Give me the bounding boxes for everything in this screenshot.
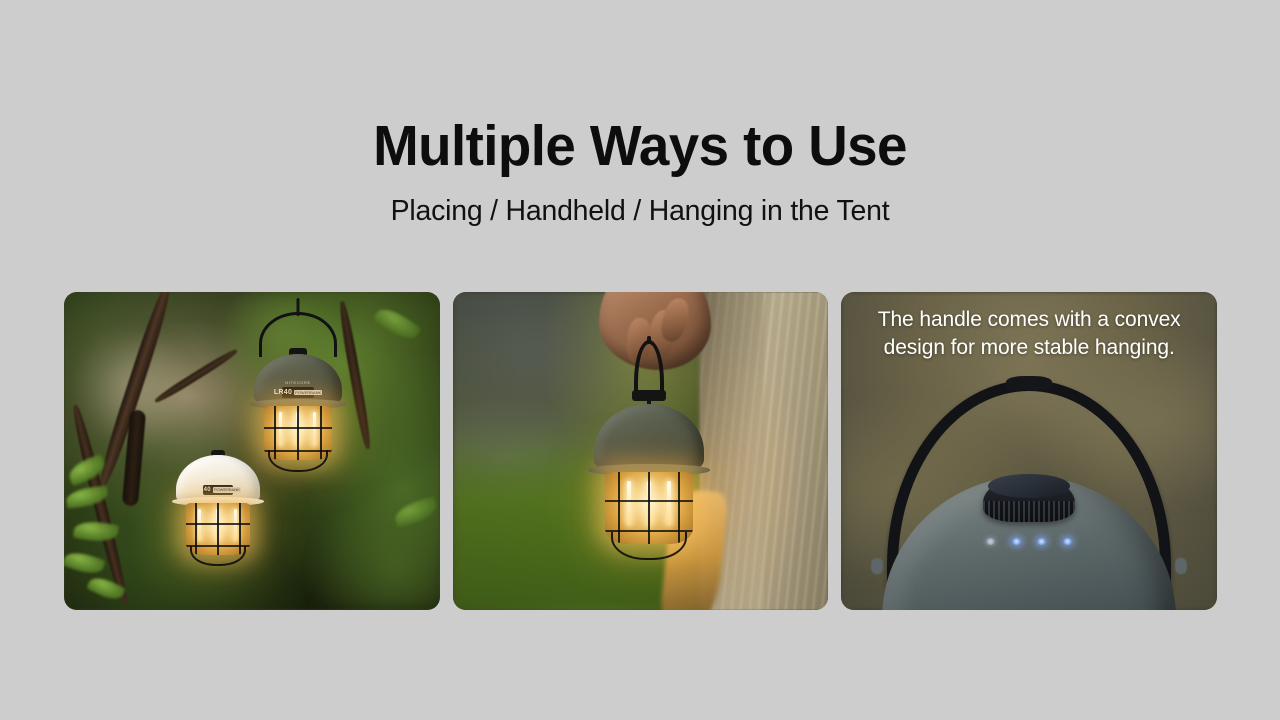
model-badge: LR40 POWERBANK <box>282 387 314 398</box>
battery-led <box>1012 538 1021 545</box>
cage-wire <box>264 427 332 429</box>
lantern-base-cage <box>611 532 687 560</box>
lantern-white: NITECORE LR40 POWERBANK <box>168 444 268 604</box>
model-name: LR40 <box>274 389 292 396</box>
gallery-panel-convex-handle-detail[interactable]: The handle comes with a convex design fo… <box>841 292 1217 610</box>
battery-led <box>1037 538 1046 545</box>
gallery-panel-handheld[interactable] <box>453 292 829 610</box>
filament <box>279 412 282 445</box>
lantern-base-cage <box>190 546 246 566</box>
handle-anchor <box>871 558 883 574</box>
badge-subtext: POWERBANK <box>294 390 322 395</box>
image-gallery: NITECORE LR40 POWERBANK <box>64 292 1217 610</box>
filament <box>198 509 201 541</box>
model-name: LR40 <box>195 487 211 493</box>
handle-anchor <box>1175 558 1187 574</box>
header: Multiple Ways to Use Placing / Handheld … <box>0 0 1280 226</box>
battery-indicator-leds <box>986 538 1072 545</box>
product-feature-page: Multiple Ways to Use Placing / Handheld … <box>0 0 1280 720</box>
lantern-base-cage <box>268 450 328 472</box>
filament <box>313 412 316 445</box>
battery-led <box>1063 538 1072 545</box>
handle-apex-notch <box>1006 376 1052 390</box>
control-knob-face[interactable] <box>988 474 1070 498</box>
filament <box>627 481 631 526</box>
gallery-panel-placing-hanging-tree[interactable]: NITECORE LR40 POWERBANK <box>64 292 440 610</box>
filament <box>667 481 671 526</box>
cage-wire <box>605 500 693 502</box>
lantern-handheld <box>589 336 709 566</box>
cage-wire <box>186 523 250 525</box>
panel-caption: The handle comes with a convex design fo… <box>841 306 1217 363</box>
brand-label: NITECORE <box>205 478 230 483</box>
filament <box>234 509 237 541</box>
battery-led <box>986 538 995 545</box>
badge-subtext: POWERBANK <box>213 487 241 492</box>
lantern-dome <box>594 404 704 470</box>
model-badge: LR40 POWERBANK <box>203 485 233 495</box>
page-title: Multiple Ways to Use <box>26 0 1255 175</box>
page-subtitle: Placing / Handheld / Hanging in the Tent <box>13 175 1267 226</box>
brand-label: NITECORE <box>285 380 310 385</box>
